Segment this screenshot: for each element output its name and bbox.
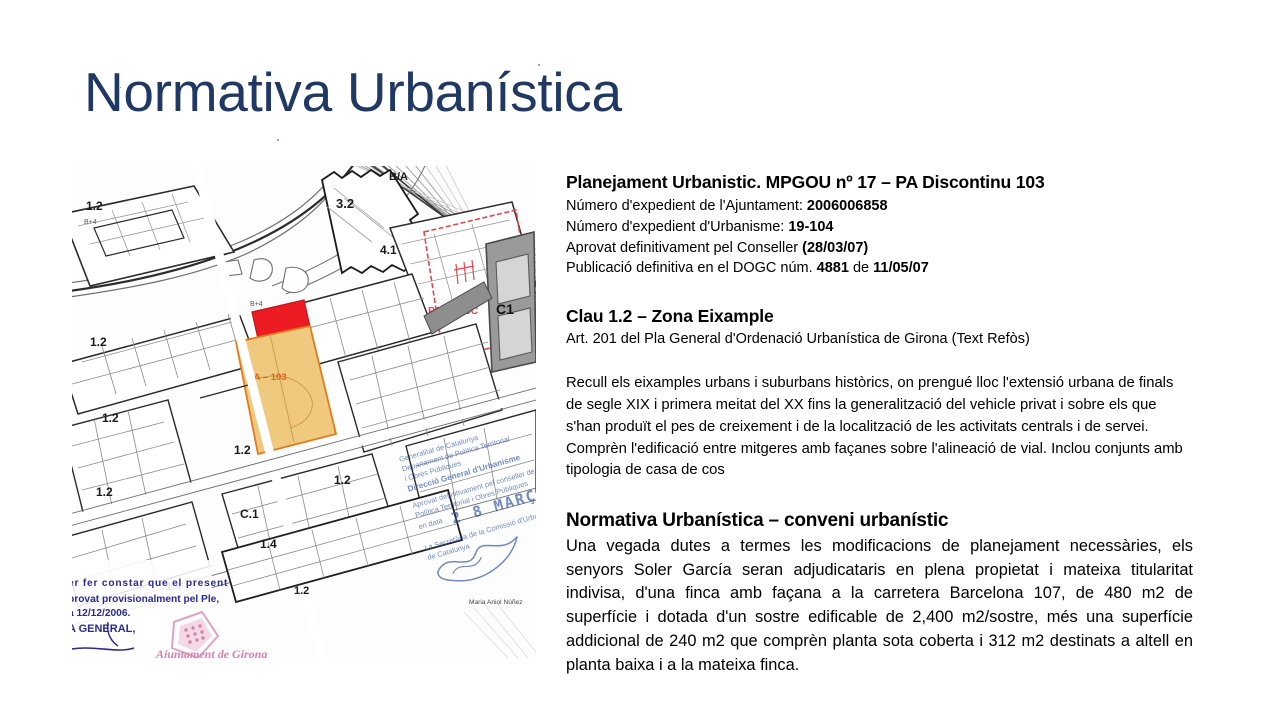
clau-heading: Clau 1.2 – Zona Eixample	[566, 306, 1196, 327]
cadastral-map-svg: 1.2 B+4 3.2 4.1 B/A	[72, 166, 536, 658]
scan-speck	[277, 139, 279, 141]
meta-row-expedient-urbanisme: Número d'expedient d'Urbanisme: 19-104	[566, 217, 1196, 238]
meta-row-publicacio: Publicació definitiva en el DOGC núm. 48…	[566, 258, 1196, 279]
zone-label-1-2-g: 1.2	[294, 585, 309, 597]
meta-value: 19-104	[788, 219, 833, 235]
svg-text:a 12/12/2006.: a 12/12/2006.	[72, 608, 130, 619]
zone-label-1-2-c: 1.2	[102, 411, 119, 425]
parcel-height-label: B+4	[250, 301, 263, 308]
page-title: Normativa Urbanística	[84, 64, 622, 122]
zone-label-1-2: 1.2	[86, 199, 103, 213]
svg-text:provat provisionalment pel Ple: provat provisionalment pel Ple,	[72, 594, 219, 605]
clau-subheading: Art. 201 del Pla General d'Ordenació Urb…	[566, 329, 1196, 349]
meta-label: Número d'expedient de l'Ajuntament:	[566, 198, 807, 214]
zone-label-1-2-d: 1.2	[96, 485, 113, 499]
meta-label: Número d'expedient d'Urbanisme:	[566, 219, 788, 235]
conveni-heading: Normativa Urbanística – conveni urbaníst…	[566, 510, 1196, 533]
zone-label-1-2-e: 1.2	[234, 443, 251, 457]
zone-sublabel: B+4	[84, 219, 97, 226]
svg-text:er fer constar que el present: er fer constar que el present	[72, 578, 228, 589]
building-label-c1: C1	[496, 301, 514, 317]
zone-label-3-2: 3.2	[336, 196, 354, 211]
urban-planning-map-figure: 1.2 B+4 3.2 4.1 B/A	[72, 166, 536, 658]
meta-label: Publicació definitiva en el DOGC núm.	[566, 260, 817, 276]
zone-label-1-2-b: 1.2	[90, 335, 107, 349]
meta-row-aprovat: Aprovat definitivament pel Conseller (28…	[566, 238, 1196, 259]
meta-label: Aprovat definitivament pel Conseller	[566, 240, 802, 256]
svg-text:A GENERAL,: A GENERAL,	[72, 623, 135, 635]
zone-label-4-1: 4.1	[380, 243, 397, 257]
zone-label-1-4: 1.4	[260, 537, 277, 551]
meta-value: 2006006858	[807, 198, 888, 214]
planejament-heading: Planejament Urbanistic. MPGOU nº 17 – PA…	[566, 172, 1196, 193]
meta-value: 4881	[817, 260, 849, 276]
conveni-body-paragraph: Una vegada dutes a termes les modificaci…	[566, 535, 1193, 678]
meta-row-expedient-ajuntament: Número d'expedient de l'Ajuntament: 2006…	[566, 196, 1196, 217]
zone-label-1-2-h: 1.2	[286, 657, 301, 658]
meta-value: (28/03/07)	[802, 240, 868, 256]
zone-label-1-2-f: 1.2	[334, 473, 351, 487]
text-column: Planejament Urbanistic. MPGOU nº 17 – PA…	[566, 172, 1196, 678]
city-seal-caption: Ajuntament de Girona	[155, 647, 267, 658]
zone-label-b-a: B/A	[389, 171, 408, 183]
meta-value-2: 11/05/07	[873, 260, 929, 276]
meta-mid: de	[849, 260, 873, 276]
scan-speck	[538, 64, 540, 66]
clau-body-paragraph: Recull els eixamples urbans i suburbans …	[566, 373, 1191, 482]
scan-speck	[120, 87, 121, 88]
zone-label-c-1: C.1	[240, 507, 259, 521]
